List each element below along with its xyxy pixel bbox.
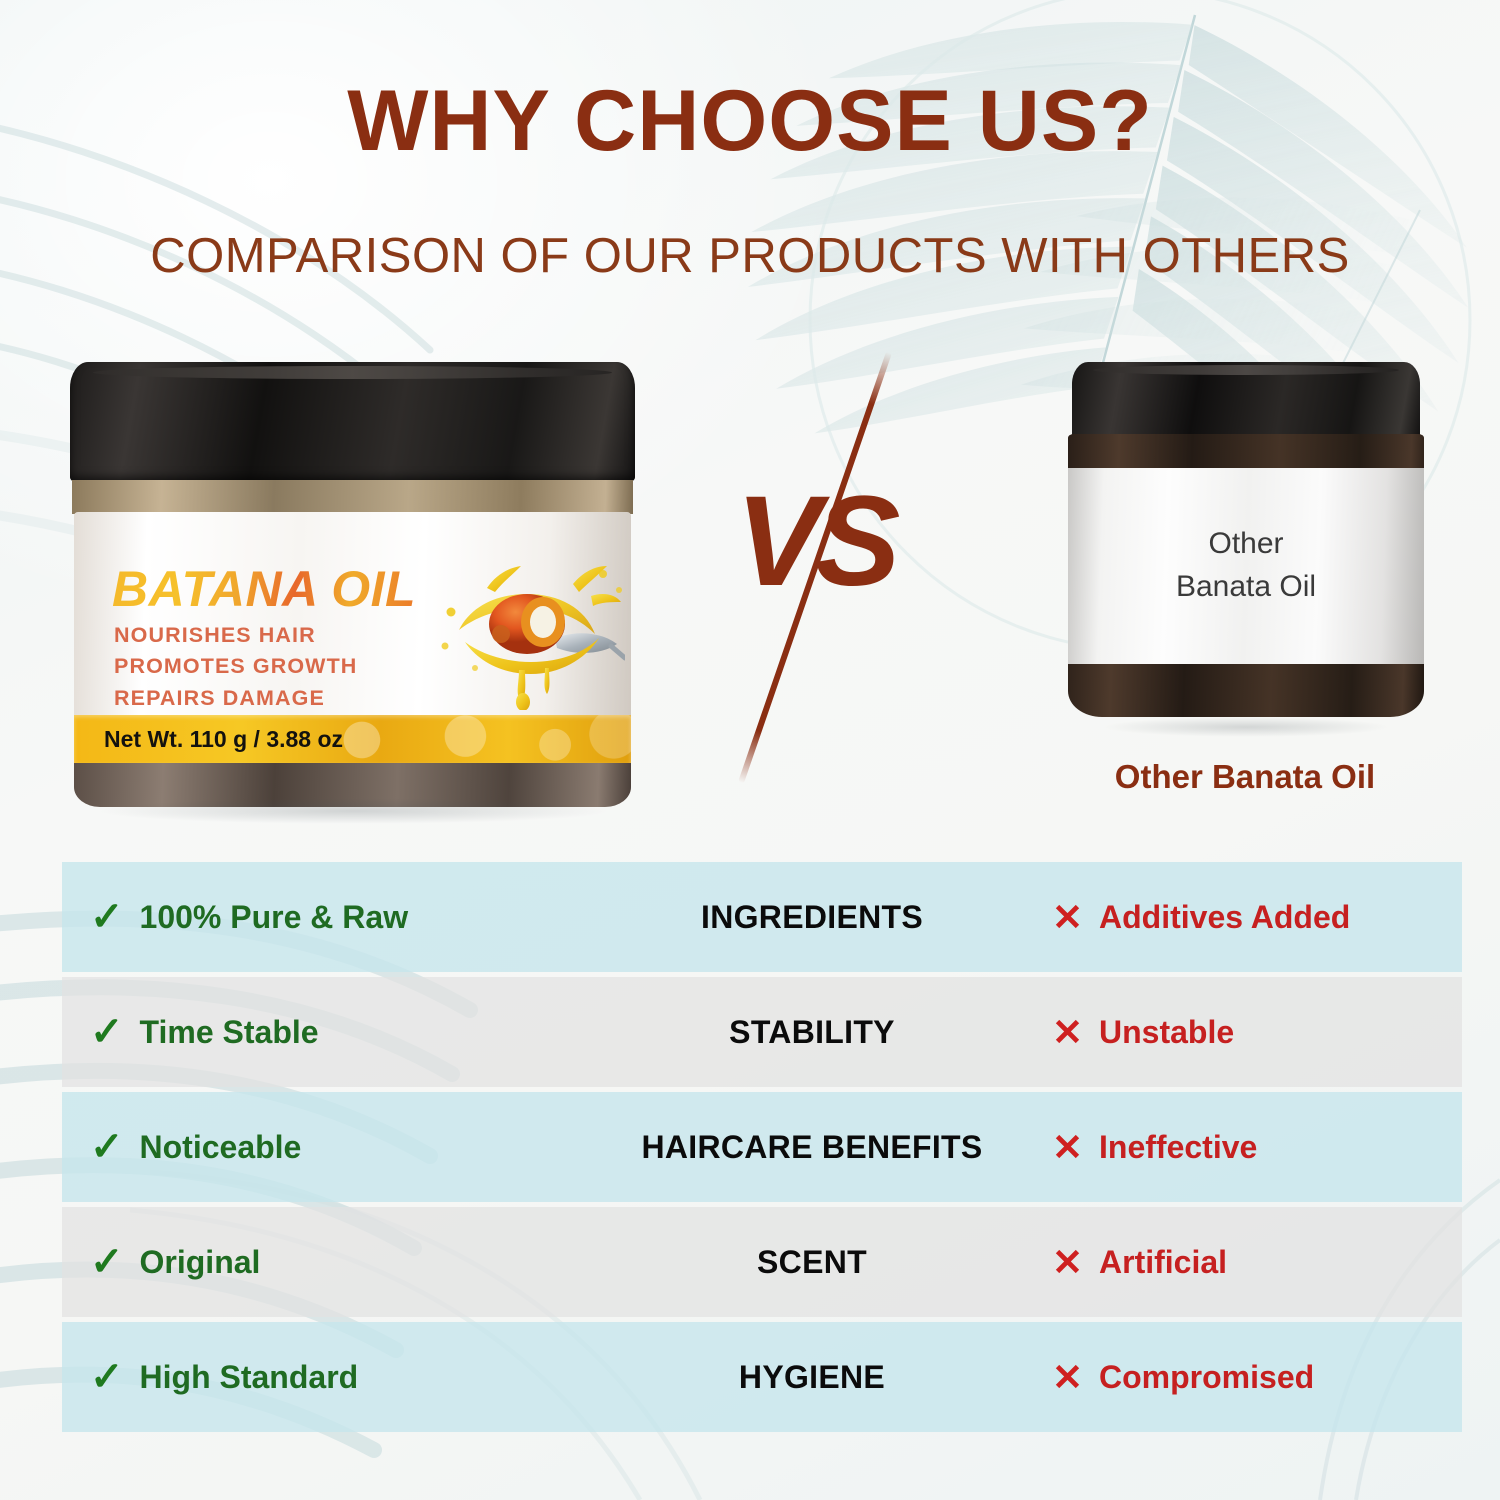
check-icon: ✓ [90, 1242, 124, 1282]
jar-label: BATANA OIL NOURISHES HAIR PROMOTES GROWT… [74, 512, 631, 714]
con-cell: ✕ Ineffective [1022, 1129, 1462, 1166]
product-claims: NOURISHES HAIR PROMOTES GROWTH REPAIRS D… [114, 620, 357, 714]
check-icon: ✓ [90, 1357, 124, 1397]
check-icon: ✓ [90, 1012, 124, 1052]
jar-neck [72, 480, 633, 514]
attribute-label: STABILITY [602, 1014, 1022, 1051]
competitor-label-line-2: Banata Oil [1176, 566, 1316, 609]
pro-label: 100% Pure & Raw [140, 899, 409, 936]
con-cell: ✕ Compromised [1022, 1359, 1462, 1396]
pro-label: Original [140, 1244, 261, 1281]
pro-label: High Standard [140, 1359, 359, 1396]
pro-cell: ✓ High Standard [62, 1357, 602, 1397]
product-showcase: BATANA OIL NOURISHES HAIR PROMOTES GROWT… [0, 340, 1500, 840]
page-title-block: WHY CHOOSE US? [0, 78, 1500, 166]
palm-fruit-oil-splash-icon [435, 550, 625, 710]
cross-icon: ✕ [1052, 1359, 1083, 1396]
pro-cell: ✓ Time Stable [62, 1012, 602, 1052]
competitor-caption: Other Banata Oil [1000, 758, 1490, 796]
pro-cell: ✓ Noticeable [62, 1127, 602, 1167]
competitor-label-line-1: Other [1176, 523, 1316, 566]
claim-line-1: NOURISHES HAIR [114, 620, 357, 651]
comparison-table: ✓ 100% Pure & Raw INGREDIENTS ✕ Additive… [62, 862, 1462, 1437]
table-row: ✓ High Standard HYGIENE ✕ Compromised [62, 1322, 1462, 1432]
net-weight-band: Net Wt. 110 g / 3.88 oz [74, 715, 631, 763]
con-cell: ✕ Unstable [1022, 1014, 1462, 1051]
check-icon: ✓ [90, 1127, 124, 1167]
page-title: WHY CHOOSE US? [0, 78, 1500, 166]
cross-icon: ✕ [1052, 1014, 1083, 1051]
pro-label: Time Stable [140, 1014, 319, 1051]
table-row: ✓ Noticeable HAIRCARE BENEFITS ✕ Ineffec… [62, 1092, 1462, 1202]
con-label: Compromised [1099, 1359, 1314, 1396]
pro-cell: ✓ 100% Pure & Raw [62, 897, 602, 937]
page-subtitle: COMPARISON OF OUR PRODUCTS WITH OTHERS [0, 228, 1500, 284]
claim-line-3: REPAIRS DAMAGE [114, 683, 357, 714]
con-cell: ✕ Additives Added [1022, 899, 1462, 936]
con-label: Unstable [1099, 1014, 1234, 1051]
pro-cell: ✓ Original [62, 1242, 602, 1282]
cross-icon: ✕ [1052, 899, 1083, 936]
table-row: ✓ Time Stable STABILITY ✕ Unstable [62, 977, 1462, 1087]
con-label: Artificial [1099, 1244, 1227, 1281]
con-cell: ✕ Artificial [1022, 1244, 1462, 1281]
competitor-jar-shadow [1102, 717, 1390, 737]
cross-icon: ✕ [1052, 1129, 1083, 1166]
poster-canvas: WHY CHOOSE US? COMPARISON OF OUR PRODUCT… [0, 0, 1500, 1500]
con-label: Ineffective [1099, 1129, 1257, 1166]
competitor-product-jar: Other Banata Oil [1068, 362, 1424, 727]
jar-lid [70, 362, 635, 482]
attribute-label: HYGIENE [602, 1359, 1022, 1396]
attribute-label: HAIRCARE BENEFITS [602, 1129, 1022, 1166]
competitor-label-text: Other Banata Oil [1176, 523, 1316, 608]
table-row: ✓ Original SCENT ✕ Artificial [62, 1207, 1462, 1317]
competitor-jar-lid [1072, 362, 1420, 440]
attribute-label: SCENT [602, 1244, 1022, 1281]
claim-line-2: PROMOTES GROWTH [114, 651, 357, 682]
con-label: Additives Added [1099, 899, 1350, 936]
attribute-label: INGREDIENTS [602, 899, 1022, 936]
cross-icon: ✕ [1052, 1244, 1083, 1281]
table-row: ✓ 100% Pure & Raw INGREDIENTS ✕ Additive… [62, 862, 1462, 972]
versus-label: VS [700, 478, 930, 606]
net-weight-text: Net Wt. 110 g / 3.88 oz [104, 726, 343, 753]
product-brand-name: BATANA OIL [112, 560, 416, 618]
versus-divider: VS [700, 340, 930, 810]
pro-label: Noticeable [140, 1129, 302, 1166]
jar-body: BATANA OIL NOURISHES HAIR PROMOTES GROWT… [74, 512, 631, 807]
our-product-jar: BATANA OIL NOURISHES HAIR PROMOTES GROWT… [70, 362, 635, 812]
jar-shadow [96, 798, 611, 824]
competitor-jar-body: Other Banata Oil [1068, 434, 1424, 717]
competitor-jar-label: Other Banata Oil [1068, 468, 1424, 664]
check-icon: ✓ [90, 897, 124, 937]
